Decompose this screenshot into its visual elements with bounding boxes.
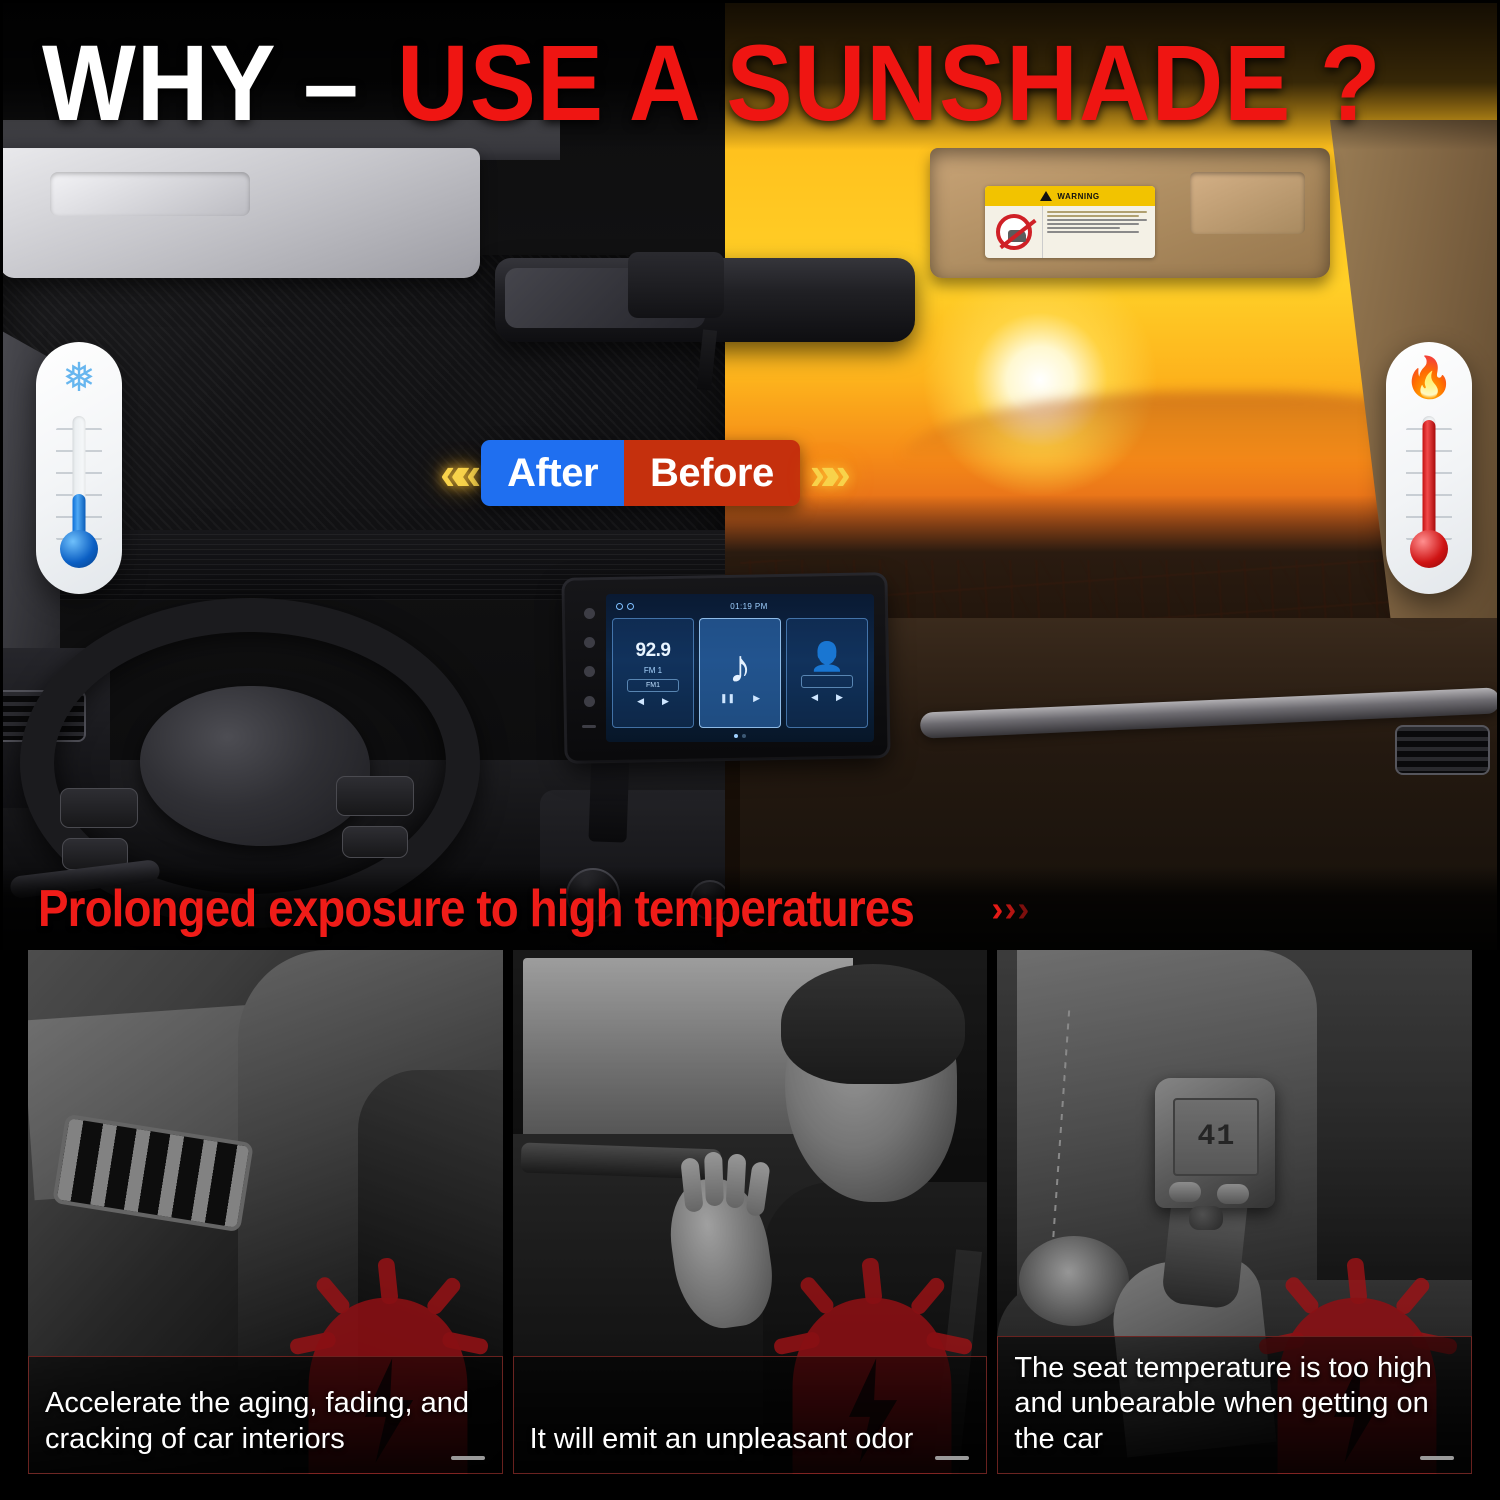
- warning-label-heading: WARNING: [1057, 192, 1099, 201]
- hot-thermometer: 🔥: [1386, 342, 1472, 594]
- bluetooth-icon: [616, 603, 623, 610]
- infotainment-page-dots[interactable]: [606, 734, 874, 738]
- head-unit-side-keys[interactable]: [576, 590, 602, 746]
- infotainment-tiles: 92.9 FM 1 FM1 ◀ ▶ ♪ ❚❚ ▶ 👤: [612, 618, 868, 728]
- media-next-icon[interactable]: ▶: [753, 693, 760, 704]
- profile-next-icon[interactable]: ▶: [836, 692, 843, 703]
- thermometer-lcd-display: 41: [1173, 1098, 1259, 1176]
- warning-label-text-lines: [1043, 206, 1155, 258]
- radio-controls[interactable]: ◀ ▶: [637, 696, 669, 707]
- radio-next-icon[interactable]: ▶: [662, 696, 669, 707]
- radio-band: FM 1: [644, 666, 662, 675]
- thermometer-fill-hot: [1423, 420, 1436, 548]
- warning-text-line: [1047, 215, 1139, 217]
- volume-up-key-icon[interactable]: [584, 696, 595, 707]
- wrist-watch: [1019, 1236, 1129, 1326]
- infotainment-status-left: [616, 603, 634, 610]
- caption-underscore: [451, 1456, 485, 1460]
- panel-odor: It will emit an unpleasant odor: [513, 950, 988, 1474]
- page-title: WHY – USE A SUNSHADE ?: [0, 28, 1500, 138]
- before-after-pill: After Before: [481, 440, 800, 506]
- media-tile[interactable]: ♪ ❚❚ ▶: [699, 618, 781, 728]
- radio-tile[interactable]: 92.9 FM 1 FM1 ◀ ▶: [612, 618, 694, 728]
- infotainment-clock: 01:19 PM: [730, 602, 767, 611]
- cold-thermometer: ❅: [36, 342, 122, 594]
- chevron-2-icon: ›: [1004, 891, 1016, 927]
- chevron-3-icon: ›: [1017, 891, 1029, 927]
- before-label: Before: [624, 440, 800, 506]
- panel-interior-aging: Accelerate the aging, fading, and cracki…: [28, 950, 503, 1474]
- radio-frequency: 92.9: [636, 640, 671, 662]
- sun-visor-pocket-right: [1190, 172, 1305, 234]
- radio-prev-icon[interactable]: ◀: [637, 696, 644, 707]
- panel-caption: Accelerate the aging, fading, and cracki…: [28, 1356, 503, 1474]
- visor-warning-label: WARNING: [985, 186, 1155, 258]
- chevron-left-icon: ««: [440, 450, 471, 496]
- chevron-right-icon: »»: [810, 450, 841, 496]
- profile-controls[interactable]: ◀ ▶: [811, 692, 843, 703]
- profile-pill[interactable]: [801, 675, 853, 688]
- media-pause-icon[interactable]: ❚❚: [720, 693, 735, 704]
- section-title: Prolonged exposure to high temperatures: [38, 879, 914, 939]
- steering-button-right-upper: [336, 776, 414, 816]
- panel-caption-text: Accelerate the aging, fading, and cracki…: [45, 1386, 486, 1457]
- signal-icon: [627, 603, 634, 610]
- warning-pictogram: [985, 206, 1043, 258]
- sun-visor-pocket-left: [50, 172, 250, 216]
- infographic-canvas: WARNING: [0, 0, 1500, 1500]
- thermometer-reading: 41: [1197, 1120, 1235, 1154]
- panel-caption-text: The seat temperature is too high and unb…: [1014, 1351, 1455, 1457]
- person-hair: [781, 964, 965, 1084]
- flame-icon: 🔥: [1386, 358, 1472, 398]
- finger: [725, 1154, 746, 1209]
- media-key-icon[interactable]: [584, 666, 595, 677]
- thermometer-bulb-cold: [60, 530, 98, 568]
- consequence-panels: Accelerate the aging, fading, and cracki…: [0, 950, 1500, 1500]
- snowflake-icon: ❅: [36, 358, 122, 398]
- caption-underscore: [935, 1456, 969, 1460]
- music-note-icon: ♪: [729, 643, 752, 689]
- steering-button-right-lower: [342, 826, 408, 858]
- head-unit-stand: [588, 751, 629, 842]
- air-vent-right: [1395, 725, 1490, 775]
- thermometer-bulb-hot: [1410, 530, 1448, 568]
- media-controls[interactable]: ❚❚ ▶: [720, 693, 760, 704]
- panel-caption: It will emit an unpleasant odor: [513, 1356, 988, 1474]
- thermometer-button-left: [1169, 1182, 1201, 1202]
- warning-text-line: [1047, 231, 1139, 233]
- infotainment-screen[interactable]: 01:19 PM 92.9 FM 1 FM1 ◀ ▶ ♪ ❚❚: [606, 594, 874, 742]
- section-title-band: Prolonged exposure to high temperatures …: [0, 866, 1500, 952]
- warning-text-line: [1047, 211, 1147, 213]
- infotainment-status-bar: 01:19 PM: [606, 598, 874, 614]
- page-dot-active[interactable]: [734, 734, 738, 738]
- thermometer-button-right: [1217, 1184, 1249, 1204]
- panel-caption-text: It will emit an unpleasant odor: [530, 1422, 914, 1457]
- profile-tile[interactable]: 👤 ◀ ▶: [786, 618, 868, 728]
- profile-prev-icon[interactable]: ◀: [811, 692, 818, 703]
- warning-text-line: [1047, 227, 1120, 229]
- home-key-icon[interactable]: [584, 637, 595, 648]
- page-title-red: USE A SUNSHADE ?: [397, 29, 1382, 137]
- warning-label-heading-row: WARNING: [985, 186, 1155, 206]
- after-label: After: [481, 440, 624, 506]
- warning-triangle-icon: [1040, 191, 1052, 201]
- page-dot[interactable]: [742, 734, 746, 738]
- thermometer-mode-button: [1189, 1206, 1223, 1230]
- seat-backrest: [358, 1070, 503, 1380]
- chevron-1-icon: ›: [991, 891, 1003, 927]
- power-key-icon[interactable]: [584, 608, 595, 619]
- panel-seat-temperature: 41 The seat temperature is too high a: [997, 950, 1472, 1474]
- finger: [704, 1152, 724, 1207]
- warning-text-line: [1047, 219, 1147, 221]
- section-chevrons-icon: › › ›: [991, 891, 1029, 927]
- rearview-mirror-mount: [628, 252, 724, 318]
- page-title-white: WHY –: [42, 29, 359, 137]
- radio-preset-pill[interactable]: FM1: [627, 679, 679, 692]
- steering-button-left-upper: [60, 788, 138, 828]
- caption-underscore: [1420, 1456, 1454, 1460]
- before-after-badge: «« After Before »»: [440, 428, 1000, 518]
- volume-down-key-icon[interactable]: [582, 725, 596, 728]
- warning-label-body: [985, 206, 1155, 258]
- warning-text-line: [1047, 223, 1139, 225]
- person-icon: 👤: [810, 643, 845, 671]
- panel-caption: The seat temperature is too high and unb…: [997, 1336, 1472, 1474]
- no-rear-facing-child-seat-icon: [996, 214, 1032, 250]
